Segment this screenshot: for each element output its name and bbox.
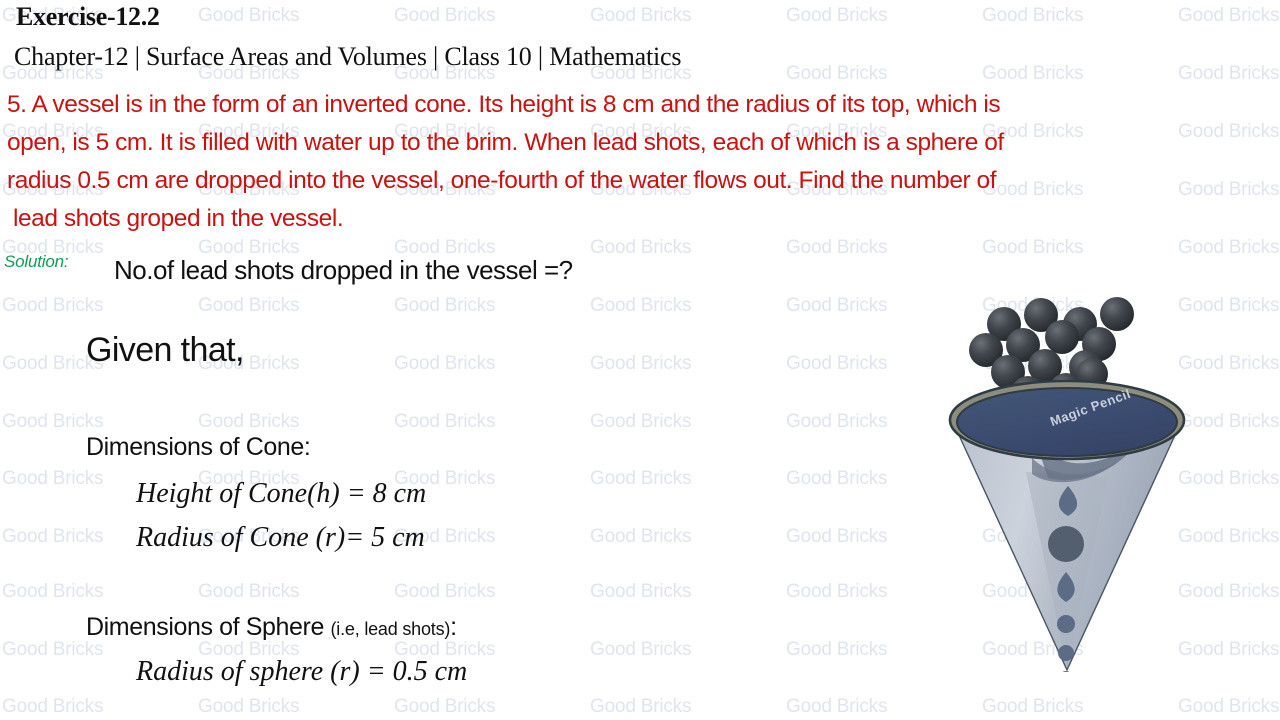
chapter-breadcrumb: Chapter-12 | Surface Areas and Volumes |… bbox=[14, 42, 681, 72]
solution-label: Solution: bbox=[4, 252, 68, 272]
exercise-title: Exercise-12.2 bbox=[16, 2, 160, 32]
cone-dimensions-heading: Dimensions of Cone: bbox=[86, 433, 310, 462]
solution-goal-text: No.of lead shots dropped in the vessel =… bbox=[114, 255, 573, 286]
cone-radius-value: Radius of Cone (r)= 5 cm bbox=[136, 522, 425, 554]
cone-height-value: Height of Cone(h) = 8 cm bbox=[136, 478, 426, 510]
slide-canvas: Good BricksGood BricksGood BricksGood Br… bbox=[0, 0, 1280, 720]
sphere-heading-main: Dimensions of Sphere bbox=[86, 613, 324, 641]
question-text: 5. A vessel is in the form of an inverte… bbox=[7, 86, 1280, 238]
slide-content: Exercise-12.2 Chapter-12 | Surface Areas… bbox=[0, 0, 1280, 720]
sphere-dimensions-heading: Dimensions of Sphere (i.e, lead shots): bbox=[86, 613, 457, 642]
sphere-heading-colon: : bbox=[450, 613, 457, 641]
sphere-radius-value: Radius of sphere (r) = 0.5 cm bbox=[136, 656, 467, 688]
given-that-heading: Given that, bbox=[86, 331, 244, 370]
question-line-1: 5. A vessel is in the form of an inverte… bbox=[7, 86, 1280, 124]
question-line-3: radius 0.5 cm are dropped into the vesse… bbox=[7, 162, 1280, 200]
question-line-2: open, is 5 cm. It is filled with water u… bbox=[7, 124, 1280, 162]
sphere-heading-note: (i.e, lead shots) bbox=[331, 619, 451, 639]
question-line-4: lead shots groped in the vessel. bbox=[7, 200, 1280, 238]
